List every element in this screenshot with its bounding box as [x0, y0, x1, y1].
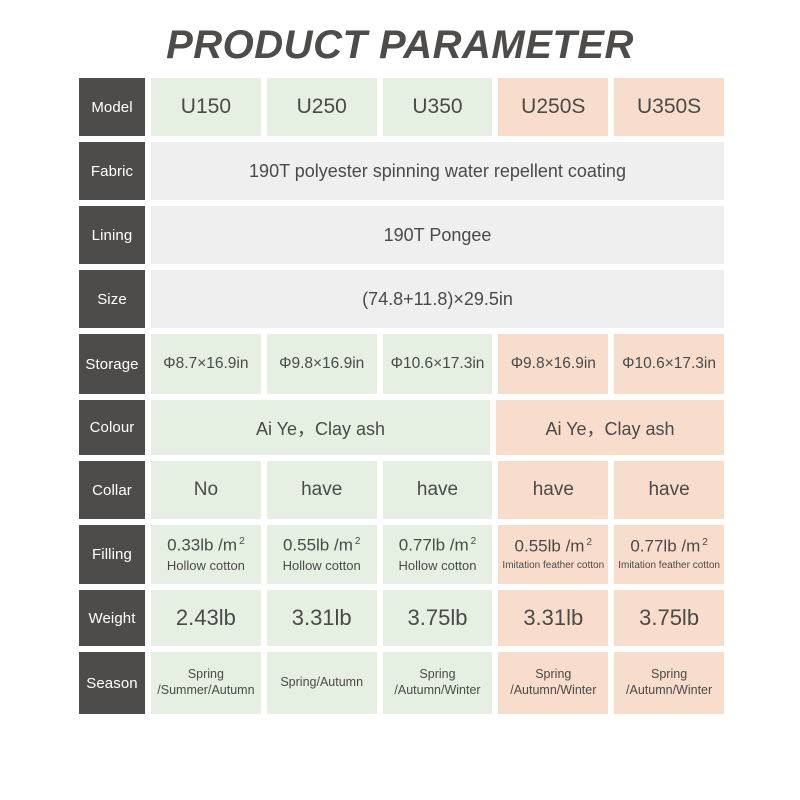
row-cells-fabric: 190T polyester spinning water repellent … [151, 142, 724, 200]
season-text: Spring /Autumn/Winter [626, 667, 712, 698]
cell-season-u350: Spring /Autumn/Winter [383, 652, 493, 714]
season-text: Spring /Autumn/Winter [394, 667, 480, 698]
cell-weight-u350s: 3.75lb [614, 590, 724, 646]
page-title: PRODUCT PARAMETER [0, 0, 800, 78]
filling-amount: 0.77lb /m2 [399, 536, 477, 555]
cell-model-u350: U350 [383, 78, 493, 136]
cell-filling-u250: 0.55lb /m2 Hollow cotton [267, 525, 377, 584]
cell-model-u350s: U350S [614, 78, 724, 136]
cell-season-u150: Spring /Summer/Autumn [151, 652, 261, 714]
filling-amount: 0.77lb /m2 [630, 537, 708, 556]
filling-amount: 0.33lb /m2 [167, 536, 245, 555]
cell-collar-u250s: have [498, 461, 608, 519]
row-label-size: Size [79, 270, 145, 328]
row-label-weight: Weight [79, 590, 145, 646]
filling-amount: 0.55lb /m2 [515, 537, 593, 556]
cell-weight-u250s: 3.31lb [498, 590, 608, 646]
filling-material: Hollow cotton [167, 558, 245, 574]
cell-model-u150: U150 [151, 78, 261, 136]
cell-season-u250: Spring/Autumn [267, 652, 377, 714]
filling-unit-superscript: 2 [586, 537, 592, 548]
row-label-season: Season [79, 652, 145, 714]
row-label-colour: Colour [79, 400, 145, 455]
filling-amount: 0.55lb /m2 [283, 536, 361, 555]
cell-weight-u150: 2.43lb [151, 590, 261, 646]
row-label-fabric: Fabric [79, 142, 145, 200]
cell-collar-u250: have [267, 461, 377, 519]
cell-filling-u250s: 0.55lb /m2 Imitation feather cotton [498, 525, 608, 584]
row-label-filling: Filling [79, 525, 145, 584]
cell-storage-u250: Φ9.8×16.9in [267, 334, 377, 394]
row-cells-filling: 0.33lb /m2 Hollow cotton 0.55lb /m2 Holl… [151, 525, 724, 584]
cell-collar-u150: No [151, 461, 261, 519]
cell-storage-u150: Φ8.7×16.9in [151, 334, 261, 394]
row-cells-weight: 2.43lb 3.31lb 3.75lb 3.31lb 3.75lb [151, 590, 724, 646]
row-cells-lining: 190T Pongee [151, 206, 724, 264]
filling-unit-superscript: 2 [355, 536, 361, 547]
filling-unit-superscript: 2 [239, 536, 245, 547]
season-text: Spring /Summer/Autumn [157, 667, 254, 698]
cell-storage-u250s: Φ9.8×16.9in [498, 334, 608, 394]
cell-lining-value: 190T Pongee [151, 206, 724, 264]
cell-collar-u350s: have [614, 461, 724, 519]
table-row-collar: Collar No have have have have [79, 461, 724, 519]
table-row-size: Size (74.8+11.8)×29.5in [79, 270, 724, 328]
table-row-fabric: Fabric 190T polyester spinning water rep… [79, 142, 724, 200]
row-cells-collar: No have have have have [151, 461, 724, 519]
cell-fabric-value: 190T polyester spinning water repellent … [151, 142, 724, 200]
cell-storage-u350s: Φ10.6×17.3in [614, 334, 724, 394]
cell-colour-peach-group: Ai Ye，Clay ash [496, 400, 724, 455]
row-cells-colour: Ai Ye，Clay ash Ai Ye，Clay ash [151, 400, 724, 455]
cell-colour-green-group: Ai Ye，Clay ash [151, 400, 490, 455]
table-row-weight: Weight 2.43lb 3.31lb 3.75lb 3.31lb 3.75l… [79, 590, 724, 646]
cell-weight-u350: 3.75lb [383, 590, 493, 646]
cell-filling-u350: 0.77lb /m2 Hollow cotton [383, 525, 493, 584]
row-cells-storage: Φ8.7×16.9in Φ9.8×16.9in Φ10.6×17.3in Φ9.… [151, 334, 724, 394]
row-label-lining: Lining [79, 206, 145, 264]
filling-material: Imitation feather cotton [618, 560, 720, 572]
row-label-collar: Collar [79, 461, 145, 519]
row-cells-size: (74.8+11.8)×29.5in [151, 270, 724, 328]
filling-amount-text: 0.55lb /m [515, 537, 585, 556]
table-row-lining: Lining 190T Pongee [79, 206, 724, 264]
filling-material: Imitation feather cotton [502, 560, 604, 572]
filling-unit-superscript: 2 [702, 537, 708, 548]
filling-material: Hollow cotton [283, 558, 361, 574]
table-row-colour: Colour Ai Ye，Clay ash Ai Ye，Clay ash [79, 400, 724, 455]
table-row-filling: Filling 0.33lb /m2 Hollow cotton 0.55lb … [79, 525, 724, 584]
parameter-table: Model U150 U250 U350 U250S U350S Fabric … [79, 78, 724, 714]
filling-amount-text: 0.33lb /m [167, 535, 237, 554]
table-row-model: Model U150 U250 U350 U250S U350S [79, 78, 724, 136]
product-parameter-page: PRODUCT PARAMETER Model U150 U250 U350 U… [0, 0, 800, 800]
cell-storage-u350: Φ10.6×17.3in [383, 334, 493, 394]
filling-amount-text: 0.77lb /m [630, 537, 700, 556]
row-label-storage: Storage [79, 334, 145, 394]
cell-weight-u250: 3.31lb [267, 590, 377, 646]
cell-filling-u150: 0.33lb /m2 Hollow cotton [151, 525, 261, 584]
cell-filling-u350s: 0.77lb /m2 Imitation feather cotton [614, 525, 724, 584]
table-row-season: Season Spring /Summer/Autumn Spring/Autu… [79, 652, 724, 714]
filling-amount-text: 0.77lb /m [399, 535, 469, 554]
filling-unit-superscript: 2 [471, 536, 477, 547]
cell-collar-u350: have [383, 461, 493, 519]
cell-model-u250: U250 [267, 78, 377, 136]
cell-model-u250s: U250S [498, 78, 608, 136]
row-cells-model: U150 U250 U350 U250S U350S [151, 78, 724, 136]
row-label-model: Model [79, 78, 145, 136]
cell-size-value: (74.8+11.8)×29.5in [151, 270, 724, 328]
cell-season-u250s: Spring /Autumn/Winter [498, 652, 608, 714]
row-cells-season: Spring /Summer/Autumn Spring/Autumn Spri… [151, 652, 724, 714]
table-row-storage: Storage Φ8.7×16.9in Φ9.8×16.9in Φ10.6×17… [79, 334, 724, 394]
filling-material: Hollow cotton [398, 558, 476, 574]
season-text: Spring /Autumn/Winter [510, 667, 596, 698]
cell-season-u350s: Spring /Autumn/Winter [614, 652, 724, 714]
season-text: Spring/Autumn [280, 675, 363, 691]
filling-amount-text: 0.55lb /m [283, 535, 353, 554]
